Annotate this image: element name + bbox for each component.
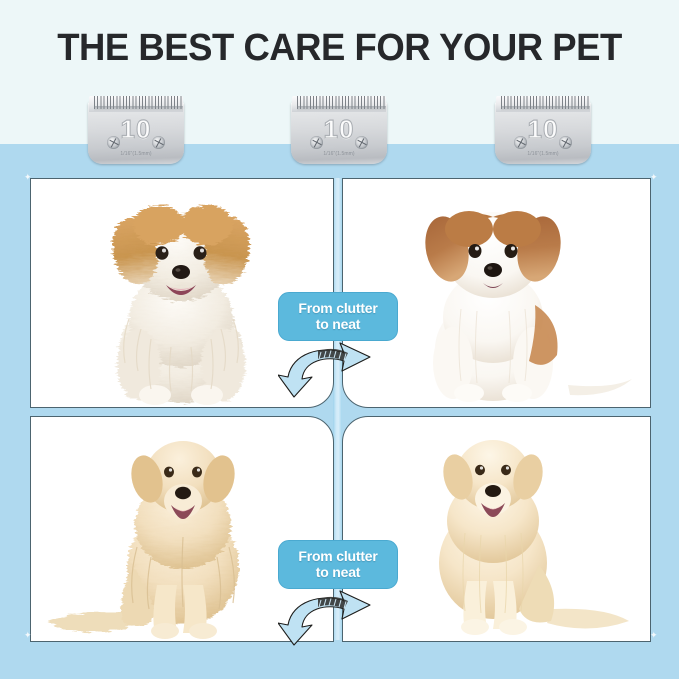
callout-box-row1: From clutter to neat bbox=[278, 292, 398, 341]
blade-teeth-plate bbox=[292, 96, 386, 112]
callout-row1: From clutter to neat bbox=[278, 292, 398, 404]
sparkle-icon: ✦ bbox=[650, 630, 658, 641]
sparkle-icon: ✦ bbox=[24, 172, 32, 183]
blade-teeth-shadow bbox=[501, 106, 590, 111]
callout-line2: to neat bbox=[283, 564, 393, 580]
curved-arrow-icon bbox=[278, 339, 398, 399]
callout-line1: From clutter bbox=[283, 548, 393, 564]
blade-size-label: 1/16"(1.5mm) bbox=[85, 151, 187, 157]
blade-screw-left-icon bbox=[107, 136, 120, 149]
clipper-blade-left: 10 1/16"(1.5mm) bbox=[85, 88, 187, 166]
page-title: THE BEST CARE FOR YOUR PET bbox=[14, 27, 666, 70]
blade-screw-right-icon bbox=[355, 136, 368, 149]
blade-teeth-shadow bbox=[297, 106, 386, 111]
sparkle-icon: ✦ bbox=[650, 172, 658, 183]
clipper-blade-center: 10 1/16"(1.5mm) bbox=[288, 88, 390, 166]
clipper-blade-right: 10 1/16"(1.5mm) bbox=[492, 88, 594, 166]
callout-row2: From clutter to neat bbox=[278, 540, 398, 652]
blade-screw-right-icon bbox=[559, 136, 572, 149]
blade-size-label: 1/16"(1.5mm) bbox=[492, 151, 594, 157]
promo-image: THE BEST CARE FOR YOUR PET 10 1/16"(1.5m… bbox=[0, 0, 679, 679]
blade-number: 10 bbox=[492, 114, 594, 145]
callout-line2: to neat bbox=[283, 316, 393, 332]
blade-teeth-plate bbox=[496, 96, 590, 112]
callout-box-row2: From clutter to neat bbox=[278, 540, 398, 589]
blade-screw-left-icon bbox=[514, 136, 527, 149]
blade-screw-left-icon bbox=[310, 136, 323, 149]
callout-line1: From clutter bbox=[283, 300, 393, 316]
blade-size-label: 1/16"(1.5mm) bbox=[288, 151, 390, 157]
blade-number: 10 bbox=[85, 114, 187, 145]
blade-teeth-plate bbox=[89, 96, 183, 112]
blade-teeth-shadow bbox=[94, 106, 183, 111]
curved-arrow-icon bbox=[278, 587, 398, 647]
blade-screw-right-icon bbox=[152, 136, 165, 149]
sparkle-icon: ✦ bbox=[24, 630, 32, 641]
blade-number: 10 bbox=[288, 114, 390, 145]
